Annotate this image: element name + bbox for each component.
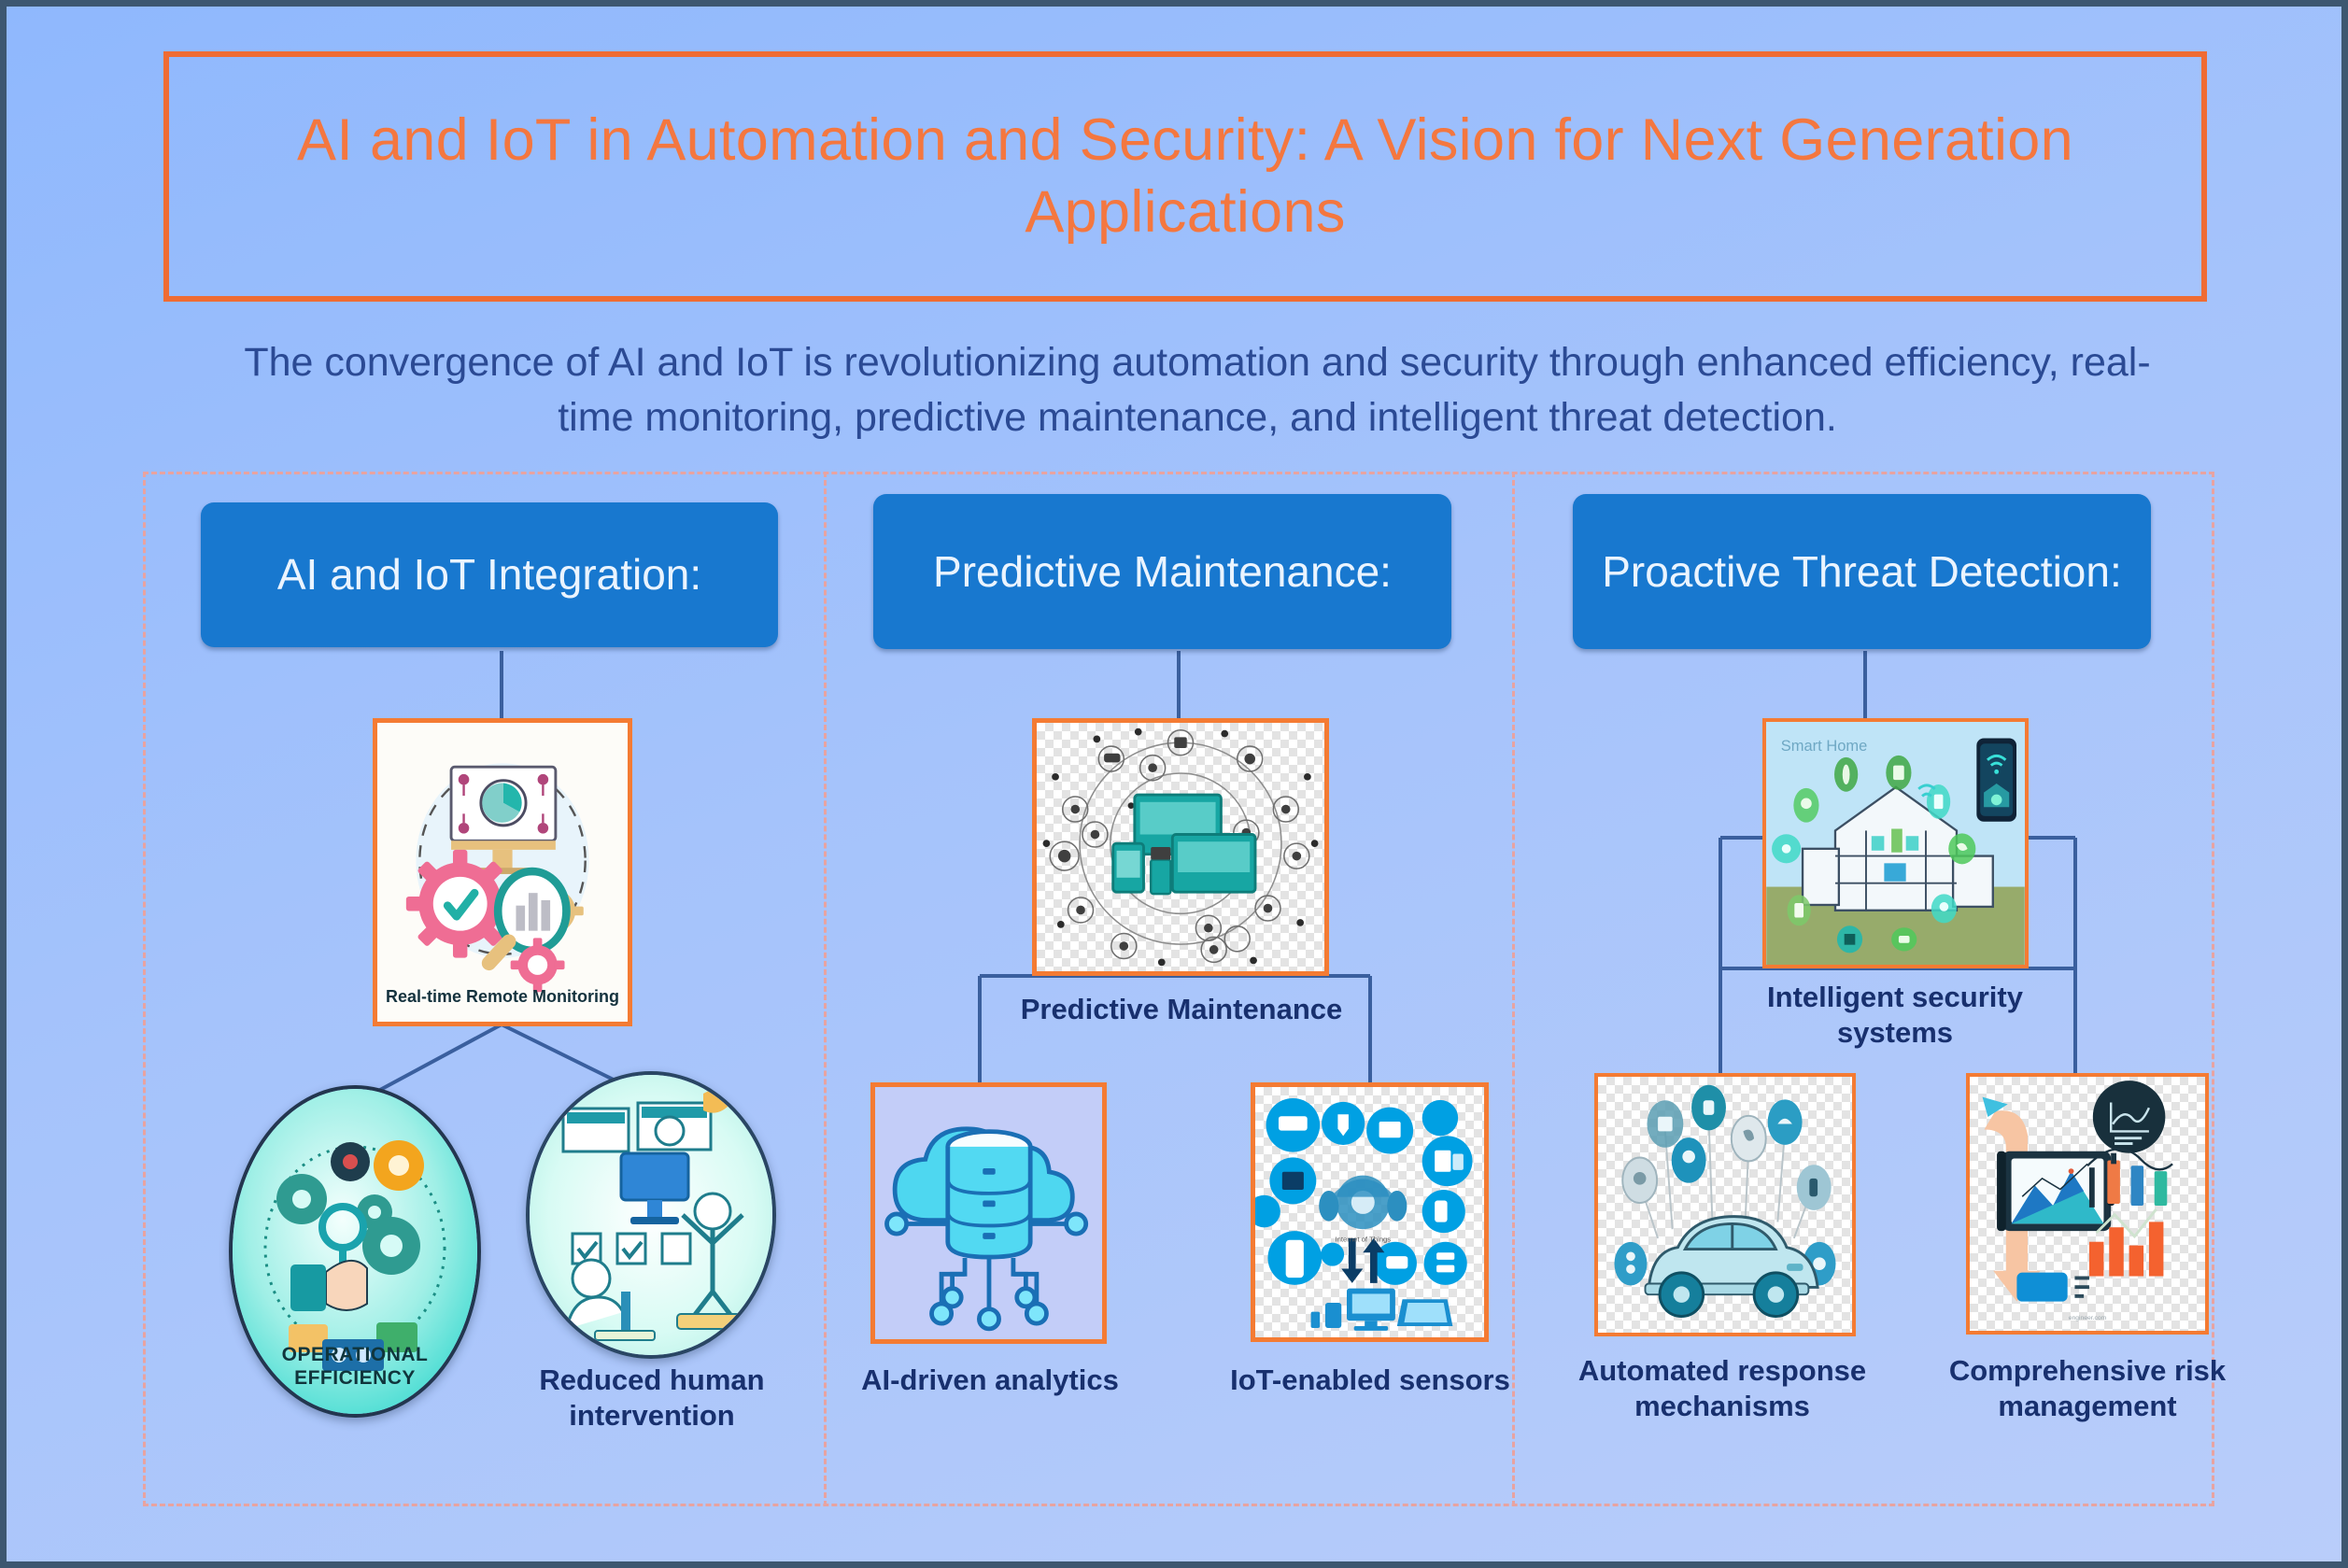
ai-driven-analytics-icon xyxy=(875,1087,1102,1339)
card-iot-enabled-sensors[interactable]: Internet of Things xyxy=(1251,1082,1489,1342)
image-reduced-human-intervention[interactable] xyxy=(526,1071,776,1359)
caption-ai-driven-analytics: AI-driven analytics xyxy=(842,1363,1138,1398)
in-image-label-real-time-remote-monitoring: Real-time Remote Monitoring xyxy=(377,986,628,1008)
column-predictive-maintenance: Predictive Maintenance: xyxy=(824,472,1512,1506)
caption-predictive-maintenance: Predictive Maintenance xyxy=(997,992,1366,1027)
title-box: AI and IoT in Automation and Security: A… xyxy=(163,51,2207,302)
subtitle-text: The convergence of AI and IoT is revolut… xyxy=(240,335,2155,446)
svg-text:engineer.com: engineer.com xyxy=(2069,1315,2107,1321)
caption-reduced-human-intervention: Reduced human intervention xyxy=(526,1363,778,1434)
poster-canvas: AI and IoT in Automation and Security: A… xyxy=(0,0,2348,1568)
card-ai-driven-analytics[interactable] xyxy=(870,1082,1107,1344)
card-comprehensive-risk-management[interactable]: engineer.com xyxy=(1966,1073,2209,1335)
in-image-label-smart-home: Smart Home xyxy=(1781,738,1868,755)
caption-comprehensive-risk-management: Comprehensive risk management xyxy=(1938,1353,2237,1424)
real-time-remote-monitoring-icon xyxy=(377,723,628,1022)
in-image-label-operational-efficiency: OPERATIONAL EFFICIENCY xyxy=(233,1343,477,1390)
reduced-human-intervention-icon xyxy=(530,1075,772,1355)
caption-intelligent-security-systems: Intelligent security systems xyxy=(1746,980,2044,1051)
image-operational-efficiency[interactable]: OPERATIONAL EFFICIENCY xyxy=(229,1085,481,1418)
card-intelligent-security-systems[interactable]: Smart Home xyxy=(1762,718,2029,968)
card-automated-response-mechanisms[interactable] xyxy=(1594,1073,1856,1336)
card-predictive-maintenance[interactable] xyxy=(1032,718,1329,976)
column-header-1[interactable]: AI and IoT Integration: xyxy=(201,502,778,647)
column-header-2[interactable]: Predictive Maintenance: xyxy=(873,494,1451,649)
caption-iot-enabled-sensors: IoT-enabled sensors xyxy=(1225,1363,1515,1398)
caption-automated-response-mechanisms: Automated response mechanisms xyxy=(1568,1353,1876,1424)
column-header-3[interactable]: Proactive Threat Detection: xyxy=(1573,494,2151,649)
predictive-maintenance-icon xyxy=(1037,723,1324,971)
risk-analytics-icon: engineer.com xyxy=(1970,1077,2205,1331)
connected-car-icon xyxy=(1598,1077,1852,1333)
smart-home-icon: Smart Home xyxy=(1766,722,2025,965)
card-real-time-remote-monitoring[interactable]: Real-time Remote Monitoring xyxy=(373,718,632,1026)
in-image-label-internet-of-things: Internet of Things xyxy=(1336,1236,1392,1244)
page-title: AI and IoT in Automation and Security: A… xyxy=(169,105,2201,248)
iot-enabled-sensors-icon: Internet of Things xyxy=(1255,1087,1484,1337)
